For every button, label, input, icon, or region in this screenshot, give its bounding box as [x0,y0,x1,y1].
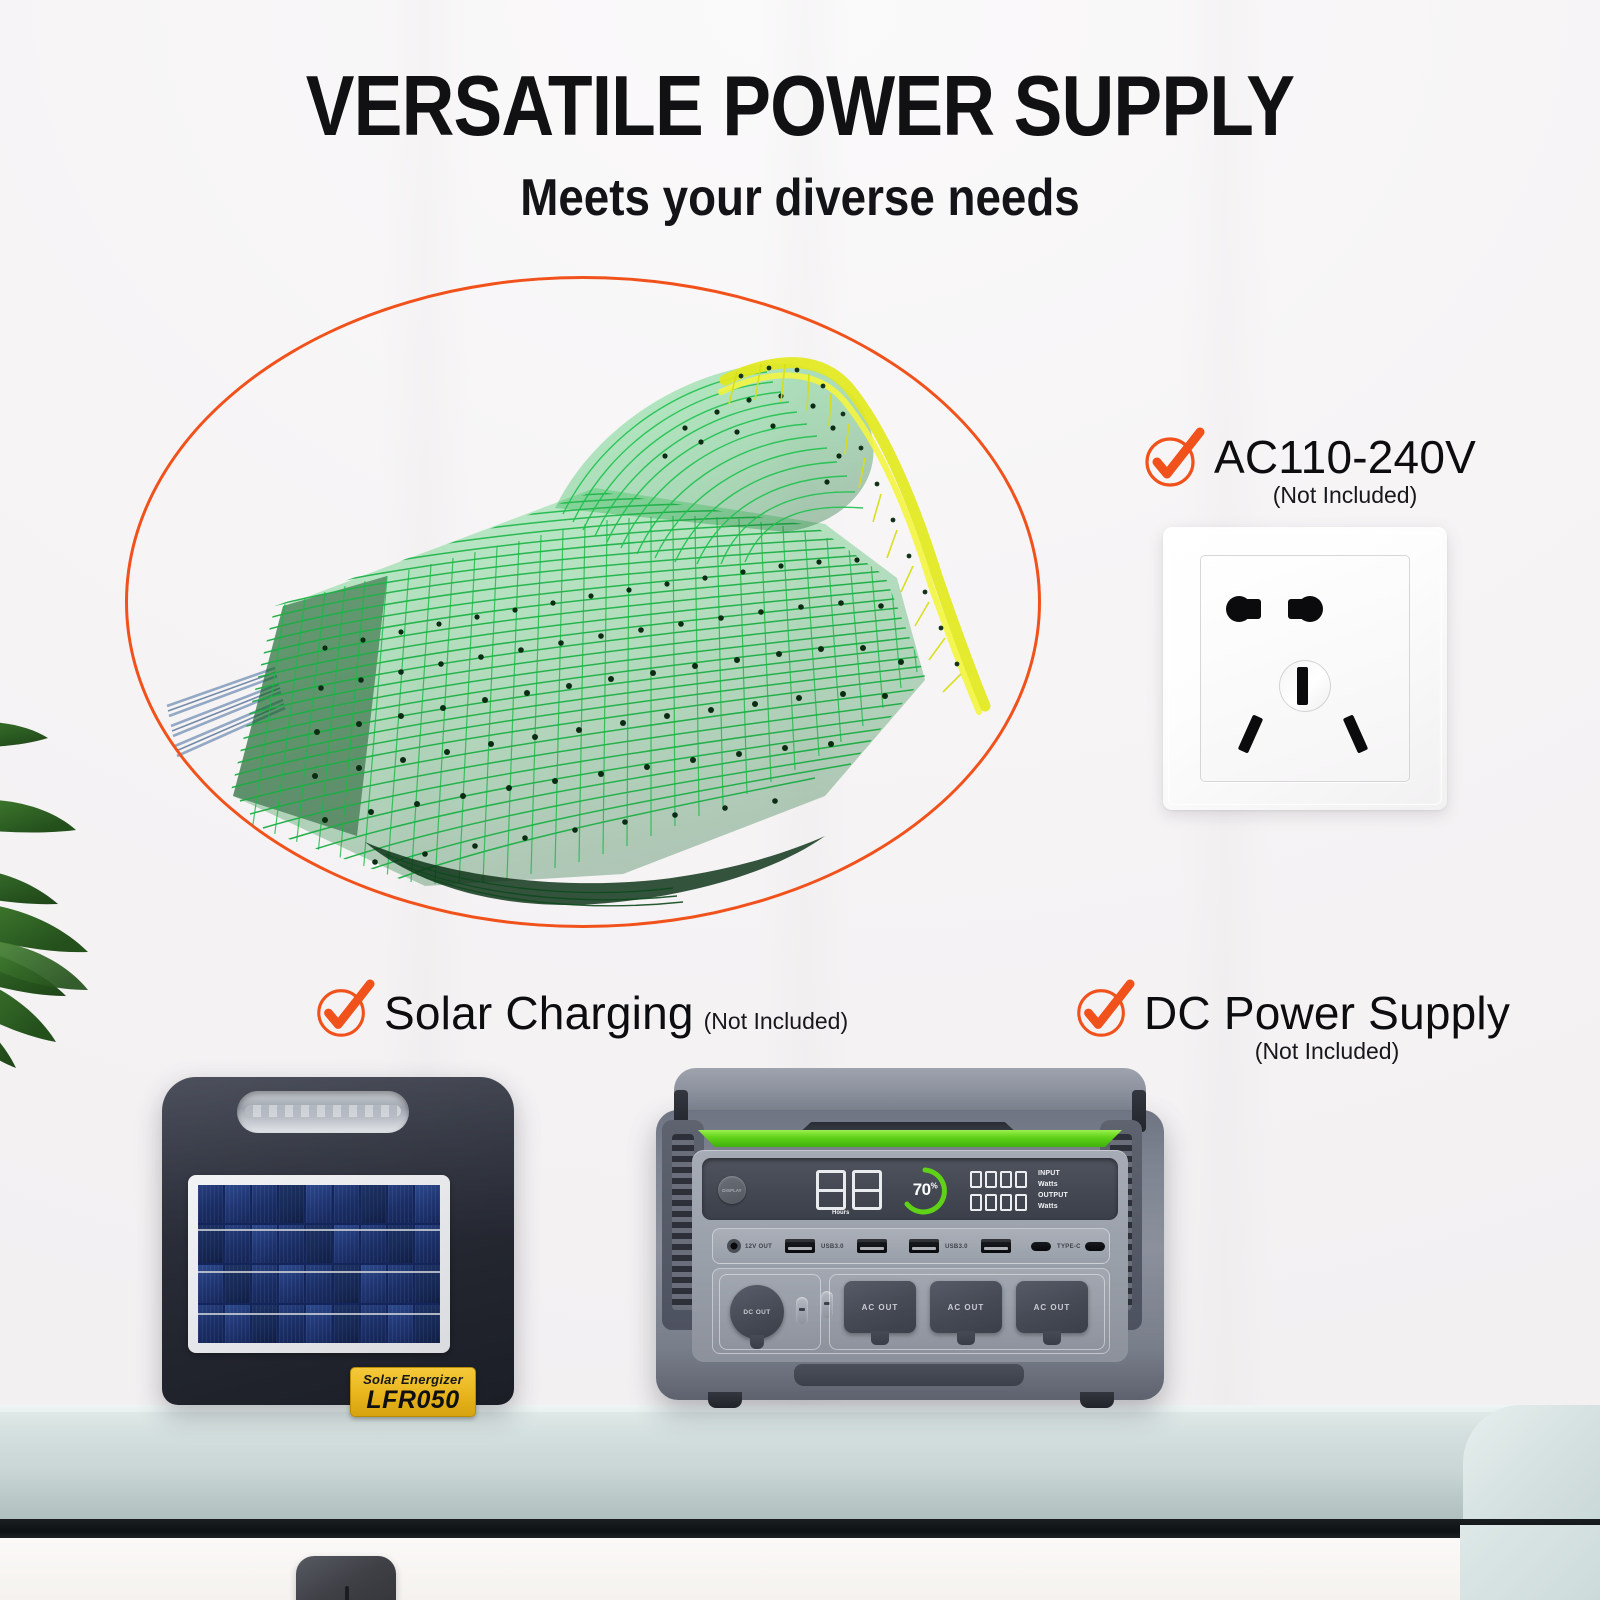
solar-panel-cells [198,1185,440,1343]
usb-a-port[interactable] [857,1239,887,1253]
badge-model-text: LFR050 [366,1388,459,1413]
socket-faceplate [1200,555,1410,782]
ac-out-cap[interactable]: AC OUT [1016,1281,1088,1333]
socket-slot-bottom-right [1343,714,1369,753]
output-watt-cells [970,1194,1027,1211]
solar-energizer-unit: Solar Energizer LFR050 [152,1055,524,1405]
usb-a-port[interactable] [909,1239,939,1253]
hours-unit-label: Hours [832,1210,849,1216]
check-circle-icon [1140,428,1204,492]
panel-busbar [198,1271,440,1273]
usb-a-port[interactable] [981,1239,1011,1253]
input-unit: Watts [1038,1181,1058,1188]
counter-surface [0,1412,1600,1524]
rubber-foot [1080,1392,1114,1408]
dc-jack-12v-label: 12V OUT [745,1244,772,1250]
cabinet-front [0,1538,1470,1600]
feature-label: Solar Charging [384,990,694,1037]
solar-energizer-badge: Solar Energizer LFR050 [350,1367,476,1417]
seven-segment-digit [816,1170,846,1210]
check-circle-icon [1072,980,1134,1042]
feature-solar-charging: Solar Charging (Not Included) [312,980,848,1042]
output-label: OUTPUT [1038,1192,1068,1199]
panel-busbar [198,1313,440,1315]
type-c-label: TYPE-C [1057,1244,1081,1250]
ac-out-cap[interactable]: AC OUT [930,1281,1002,1333]
type-c-port[interactable] [1031,1242,1051,1251]
wall-socket[interactable] [1163,527,1447,810]
ac-out-label: AC OUT [1034,1303,1071,1312]
feature-ac-power: AC110-240V (Not Included) [1140,428,1476,510]
cabinet-right-side [1460,1525,1600,1600]
bottom-grip [794,1364,1024,1386]
battery-percent: 70% [898,1180,952,1200]
ac-out-label: AC OUT [948,1303,985,1312]
feature-label: DC Power Supply [1144,990,1510,1037]
ac-output-group: AC OUT AC OUT AC OUT [829,1274,1105,1350]
rubber-foot [708,1392,742,1408]
cabinet-handle[interactable] [296,1556,396,1600]
panel-busbar [198,1229,440,1231]
page-subtitle: Meets your diverse needs [96,168,1504,228]
lcd-display: DISPLAY Hours 70% INPUT Watts [702,1158,1118,1220]
vent-grille [672,1134,694,1310]
feature-dc-power: DC Power Supply (Not Included) [1072,980,1510,1066]
carry-handle[interactable] [237,1091,409,1133]
feature-note: (Not Included) [1214,481,1476,510]
dc-out-cap[interactable]: DC OUT [730,1285,784,1339]
usb3-label: USB3.0 [821,1244,844,1250]
page-title: VERSATILE POWER SUPPLY [112,58,1488,156]
type-c-port[interactable] [1085,1242,1105,1251]
feature-label: AC110-240V [1214,434,1476,481]
product-marketing-image: VERSATILE POWER SUPPLY Meets your divers… [0,0,1600,1600]
port-row: 12V OUT USB3.0 USB3.0 TYPE-C [712,1228,1110,1264]
badge-brand-text: Solar Energizer [363,1372,463,1387]
fuse-switch[interactable] [796,1297,808,1325]
socket-slot-bottom-left [1238,714,1264,753]
ac-out-cap[interactable]: AC OUT [844,1281,916,1333]
led-strip [698,1130,1122,1147]
usb-a-port[interactable] [785,1239,815,1253]
socket-slot-top-right [1288,599,1312,619]
input-label: INPUT [1038,1170,1060,1177]
socket-ground-slot [1297,667,1308,705]
feature-note: (Not Included) [1144,1037,1510,1066]
solar-panel-frame [188,1175,450,1353]
input-watt-cells [970,1171,1027,1188]
usb3-label: USB3.0 [945,1244,968,1250]
dc-jack-12v-port[interactable] [727,1239,741,1253]
ac-out-label: AC OUT [862,1303,899,1312]
seven-segment-digit [852,1170,882,1210]
power-station-front-face: DISPLAY Hours 70% INPUT Watts [692,1150,1128,1362]
dc-out-label: DC OUT [743,1309,770,1316]
highlight-ellipse [125,276,1041,928]
dc-output-group: DC OUT [719,1274,821,1350]
socket-slot-top-left [1237,599,1261,619]
output-unit: Watts [1038,1203,1058,1210]
feature-note: (Not Included) [704,1007,848,1036]
display-button[interactable]: DISPLAY [718,1176,746,1204]
check-circle-icon [312,980,374,1042]
output-row: DC OUT AC OUT AC OUT AC OUT [712,1268,1110,1354]
display-button-label: DISPLAY [722,1188,742,1193]
portable-power-station: DISPLAY Hours 70% INPUT Watts [648,1068,1172,1418]
